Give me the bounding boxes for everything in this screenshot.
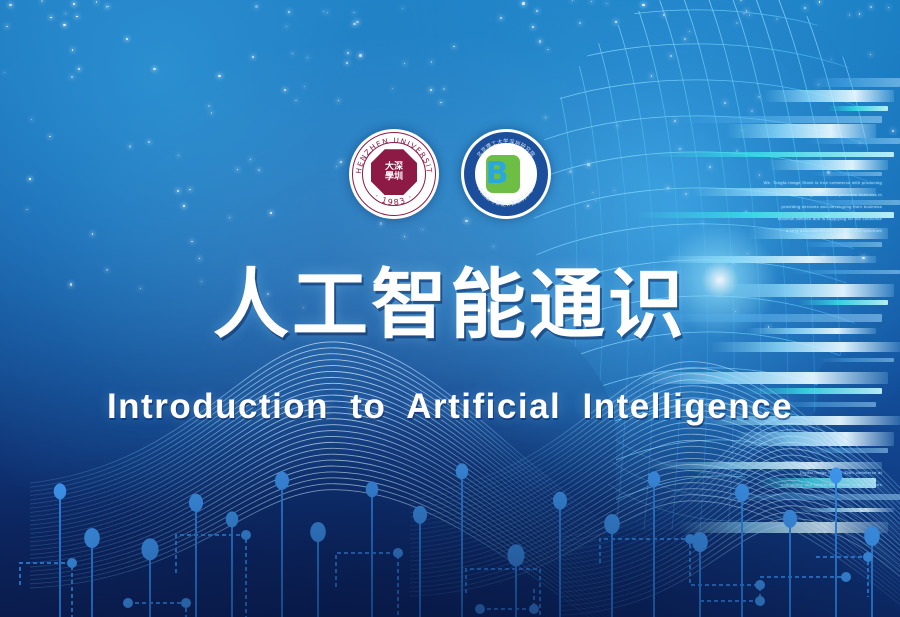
blue-seal-letter: B <box>486 159 509 189</box>
ai-course-poster: We, Tongfa Image Stock is true commerce … <box>0 0 900 617</box>
shenzhen-university-logo: SHENZHEN UNIVERSITY · 1983 · 大深學圳 <box>349 129 439 219</box>
poster-title-english: Introduction to Artificial Intelligence <box>0 385 900 429</box>
poster-title-chinese: 人工智能通识 <box>0 262 900 348</box>
logo-row: SHENZHEN UNIVERSITY · 1983 · 大深學圳 <box>0 128 900 220</box>
blue-institute-logo: 北京理工大学深圳研究院 大数据与智能计算研究中心 B <box>461 129 551 219</box>
seal-center-characters: 大深學圳 <box>385 162 403 182</box>
